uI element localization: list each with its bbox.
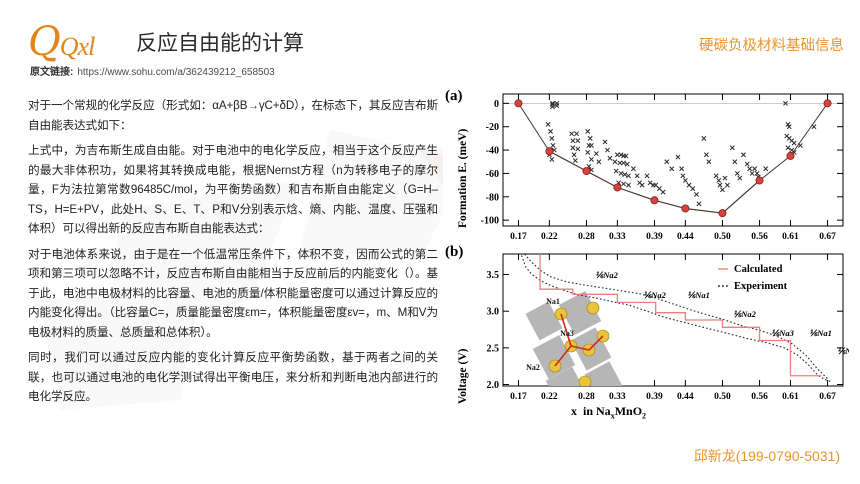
svg-text:0.50: 0.50 xyxy=(714,232,731,242)
page-title: 反应自由能的计算 xyxy=(136,32,304,55)
svg-text:0.61: 0.61 xyxy=(782,232,799,242)
paragraph-2: 上式中，为吉布斯生成自由能。对于电池中的电化学反应，相当于这个反应产生的最大非体… xyxy=(28,141,438,239)
svg-text:0.22: 0.22 xyxy=(541,392,558,402)
svg-text:0.56: 0.56 xyxy=(751,232,768,242)
svg-text:0.17: 0.17 xyxy=(510,232,527,242)
svg-text:0.28: 0.28 xyxy=(578,232,595,242)
svg-text:-100: -100 xyxy=(481,216,499,227)
footer-contact: 邱新龙(199-0790-5031) xyxy=(694,446,840,466)
svg-text:⅙Na2: ⅙Na2 xyxy=(643,290,667,300)
panel-b-ylabel: Voltage (V) xyxy=(457,349,469,404)
svg-text:0.50: 0.50 xyxy=(714,392,731,402)
svg-text:⅙Na3: ⅙Na3 xyxy=(771,328,795,338)
slide-root: 𝑄Qxl 反应自由能的计算 原文链接:https://www.sohu.com/… xyxy=(0,0,860,484)
topic-tag: 硬碳负极材料基础信息 xyxy=(699,34,844,55)
paragraph-1: 对于一个常规的化学反应（形式如：αA+βB→γC+δD），在标态下，其反应吉布斯… xyxy=(28,96,438,135)
paragraph-4: 同时，我们可以通过反应内能的变化计算反应平衡势函数，基于两者之间的关联，也可以通… xyxy=(28,348,438,407)
svg-text:0.33: 0.33 xyxy=(609,392,626,402)
svg-text:Experiment: Experiment xyxy=(734,281,788,292)
svg-text:0.33: 0.33 xyxy=(609,232,626,242)
svg-text:⅙Na2: ⅙Na2 xyxy=(595,270,619,280)
svg-text:⅙Na2: ⅙Na2 xyxy=(733,309,757,319)
svg-text:-40: -40 xyxy=(486,146,499,157)
panel-a-ylabel: Formation E. (meV) xyxy=(457,129,469,228)
svg-text:0.44: 0.44 xyxy=(677,392,694,402)
svg-text:0.67: 0.67 xyxy=(819,232,836,242)
source-label: 原文链接: xyxy=(30,67,73,78)
svg-text:Na1: Na1 xyxy=(546,297,560,306)
body-text-block: 对于一个常规的化学反应（形式如：αA+βB→γC+δD），在标态下，其反应吉布斯… xyxy=(28,96,438,413)
source-url: https://www.sohu.com/a/362439212_658503 xyxy=(77,67,274,78)
figure-svg: 0-20-40-60-80-1000.170.220.280.330.390.4… xyxy=(443,86,849,420)
svg-text:0.67: 0.67 xyxy=(819,392,836,402)
svg-text:Na3: Na3 xyxy=(560,329,574,338)
xaxis-title: x in NaxMnO2 xyxy=(571,404,646,420)
svg-text:⅙Na1: ⅙Na1 xyxy=(809,328,832,338)
svg-text:0.61: 0.61 xyxy=(782,392,799,402)
svg-text:2.5: 2.5 xyxy=(487,343,500,354)
svg-text:0.39: 0.39 xyxy=(646,392,663,402)
svg-text:Na2: Na2 xyxy=(526,363,540,372)
svg-text:0.28: 0.28 xyxy=(578,392,595,402)
svg-text:3.5: 3.5 xyxy=(487,270,500,281)
svg-text:2.0: 2.0 xyxy=(487,380,500,391)
svg-text:⅙Na2: ⅙Na2 xyxy=(837,346,849,356)
svg-text:0.22: 0.22 xyxy=(541,232,558,242)
svg-text:⅙Na1: ⅙Na1 xyxy=(687,290,710,300)
svg-text:0.17: 0.17 xyxy=(510,392,527,402)
svg-text:0.56: 0.56 xyxy=(751,392,768,402)
svg-text:3.0: 3.0 xyxy=(487,307,500,318)
svg-text:-80: -80 xyxy=(486,192,499,203)
panel-a-tag: (a) xyxy=(445,88,463,105)
paragraph-3: 对于电池体系来说，由于是在一个低温常压条件下，体积不变，因而公式的第二项和第三项… xyxy=(28,245,438,343)
svg-text:0: 0 xyxy=(494,99,499,110)
panel-b-tag: (b) xyxy=(445,244,463,261)
svg-text:0.44: 0.44 xyxy=(677,232,694,242)
figure-panel: (a) (b) Formation E. (meV) Voltage (V) 0… xyxy=(443,86,849,420)
svg-text:Calculated: Calculated xyxy=(734,264,783,275)
svg-text:-60: -60 xyxy=(486,169,499,180)
svg-text:0.39: 0.39 xyxy=(646,232,663,242)
svg-text:-20: -20 xyxy=(486,122,499,133)
